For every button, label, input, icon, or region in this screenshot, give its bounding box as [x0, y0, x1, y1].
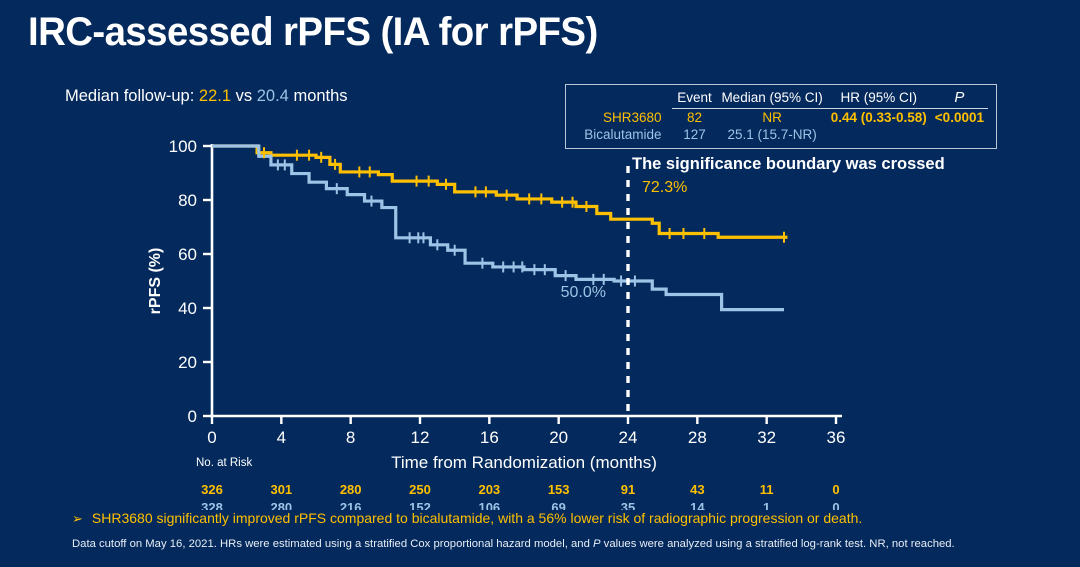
risk-table-label: No. at Risk: [196, 457, 252, 469]
risk-count: 1: [763, 500, 770, 510]
km-curve-shr3680: [212, 146, 787, 237]
takeaway-text: SHR3680 significantly improved rPFS comp…: [92, 510, 862, 526]
footnote-part-p: P: [593, 538, 601, 550]
chart-rate-annotations: 72.3%50.0%: [561, 179, 688, 301]
risk-count: 216: [340, 500, 362, 510]
risk-count: 301: [270, 482, 292, 497]
median-followup-label: Median follow-up:: [65, 87, 194, 105]
risk-count: 153: [548, 482, 570, 497]
y-tick-label: 40: [178, 299, 197, 318]
x-axis-title: Time from Randomization (months): [391, 453, 657, 472]
bullet-arrow-icon: ➢: [72, 511, 83, 526]
median-followup-value-a: 22.1: [199, 87, 231, 105]
y-tick-label: 20: [178, 353, 197, 372]
stats-header-p: P: [931, 89, 988, 109]
risk-count: 91: [621, 482, 635, 497]
rate-label-bicalutamide: 50.0%: [561, 284, 606, 301]
risk-count: 106: [478, 500, 500, 510]
risk-count: 328: [201, 500, 223, 510]
risk-count: 250: [409, 482, 431, 497]
median-followup-value-b: 20.4: [257, 87, 289, 105]
risk-count: 0: [832, 482, 839, 497]
footnote-part-a: Data cutoff on May 16, 2021. HRs were es…: [72, 538, 593, 550]
risk-count: 14: [690, 500, 705, 510]
risk-count: 43: [690, 482, 704, 497]
stats-header-hr: HR (95% CI): [827, 89, 931, 109]
km-curve-bicalutamide: [212, 146, 784, 310]
x-tick-label: 28: [688, 428, 707, 447]
footnote-part-c: values were analyzed using a stratified …: [601, 538, 955, 550]
rate-label-shr3680: 72.3%: [642, 179, 687, 196]
risk-count: 152: [409, 500, 431, 510]
stats-header-event: Event: [672, 89, 718, 109]
risk-count: 280: [340, 482, 362, 497]
x-tick-label: 20: [549, 428, 568, 447]
km-plot-svg: 02040608010004812162024283236 72.3%50.0%…: [0, 120, 1080, 510]
x-tick-label: 4: [277, 428, 286, 447]
y-tick-label: 80: [178, 191, 197, 210]
x-tick-label: 12: [411, 428, 430, 447]
risk-count: 35: [621, 500, 635, 510]
median-followup-unit: months: [293, 87, 347, 105]
y-tick-label: 0: [188, 407, 197, 426]
chart-axis-titles: Time from Randomization (months)rPFS (%): [147, 248, 657, 472]
kaplan-meier-chart: 02040608010004812162024283236 72.3%50.0%…: [0, 120, 1080, 510]
chart-tick-labels: 02040608010004812162024283236: [169, 137, 846, 447]
x-tick-label: 32: [757, 428, 776, 447]
chart-axes: [203, 144, 842, 424]
risk-count: 0: [832, 500, 839, 510]
risk-count: 326: [201, 482, 223, 497]
stats-header-median: Median (95% CI): [717, 89, 826, 109]
median-followup: Median follow-up: 22.1 vs 20.4 months: [65, 87, 348, 106]
y-tick-label: 100: [169, 137, 197, 156]
x-tick-label: 24: [619, 428, 638, 447]
takeaway-statement: ➢SHR3680 significantly improved rPFS com…: [72, 510, 1072, 527]
chart-curves: [212, 146, 787, 310]
risk-count: 280: [270, 500, 292, 510]
risk-count: 11: [760, 482, 774, 497]
x-tick-label: 0: [207, 428, 216, 447]
stats-header-row: Event Median (95% CI) HR (95% CI) P: [574, 89, 988, 109]
risk-count: 69: [551, 500, 565, 510]
y-tick-label: 60: [178, 245, 197, 264]
x-tick-label: 8: [346, 428, 355, 447]
stats-header-arm: [574, 89, 672, 109]
page-title: IRC-assessed rPFS (IA for rPFS): [28, 10, 598, 55]
footnote: Data cutoff on May 16, 2021. HRs were es…: [72, 538, 1077, 550]
risk-count: 203: [478, 482, 500, 497]
x-tick-label: 36: [827, 428, 846, 447]
median-followup-separator: vs: [236, 87, 253, 105]
x-tick-label: 16: [480, 428, 499, 447]
y-axis-title: rPFS (%): [147, 248, 164, 315]
